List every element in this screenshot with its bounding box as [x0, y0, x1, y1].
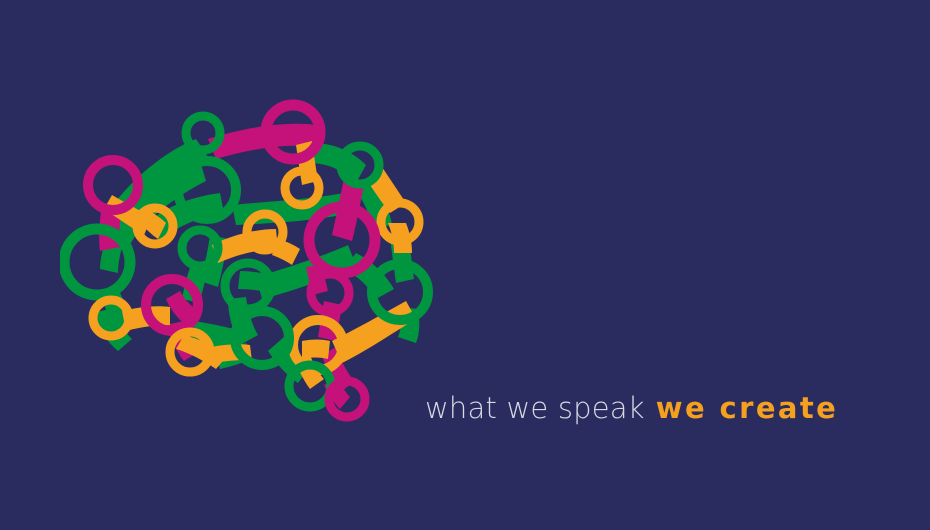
tagline-accent-text: we create [656, 391, 838, 425]
brain-network-logo [60, 95, 440, 435]
tagline: what we speakwe create [425, 390, 838, 426]
logo-node-n1 [186, 116, 220, 150]
logo-node-n12 [64, 229, 130, 295]
tagline-light-text: what we speak [425, 391, 645, 425]
canvas: what we speakwe create [0, 0, 930, 530]
